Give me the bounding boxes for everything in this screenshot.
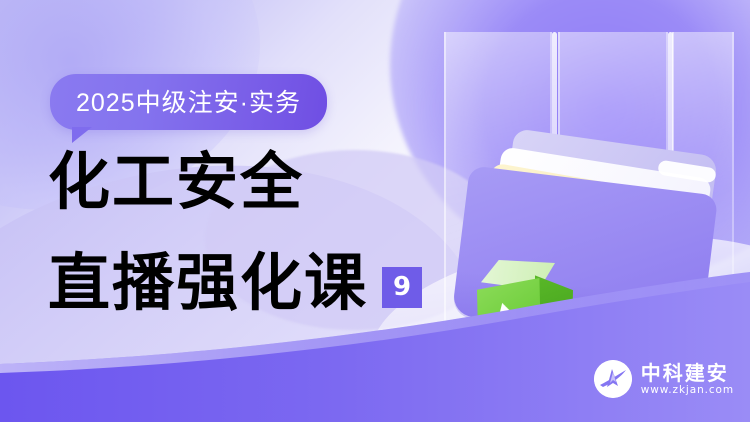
title-line-2: 直播强化课 [48,252,368,314]
episode-number-badge: 9 [382,267,422,308]
course-banner: 2025中级注安·实务 化工安全 直播强化课 9 中科建安 www.zkjan.… [0,0,750,422]
title-line-2-row: 直播强化课 9 [48,252,422,314]
brand-url: www.zkjan.com [641,385,734,396]
green-play-cube-icon [475,260,587,370]
illustration [400,0,750,360]
brand-name: 中科建安 [641,363,734,384]
page-title: 化工安全 [48,152,304,212]
brand-logo[interactable]: 中科建安 www.zkjan.com [594,360,734,398]
brand-text: 中科建安 www.zkjan.com [641,363,734,396]
mountain-arrow-logo-icon [594,360,632,398]
folder-icon [430,120,730,350]
course-category-badge: 2025中级注安·实务 [50,74,327,130]
course-category-label: 2025中级注安·实务 [76,89,301,117]
badge-tail-icon [72,127,92,143]
title-line-1-wrap: 化工安全 [48,152,304,212]
title-line-1: 化工安全 [48,145,304,218]
